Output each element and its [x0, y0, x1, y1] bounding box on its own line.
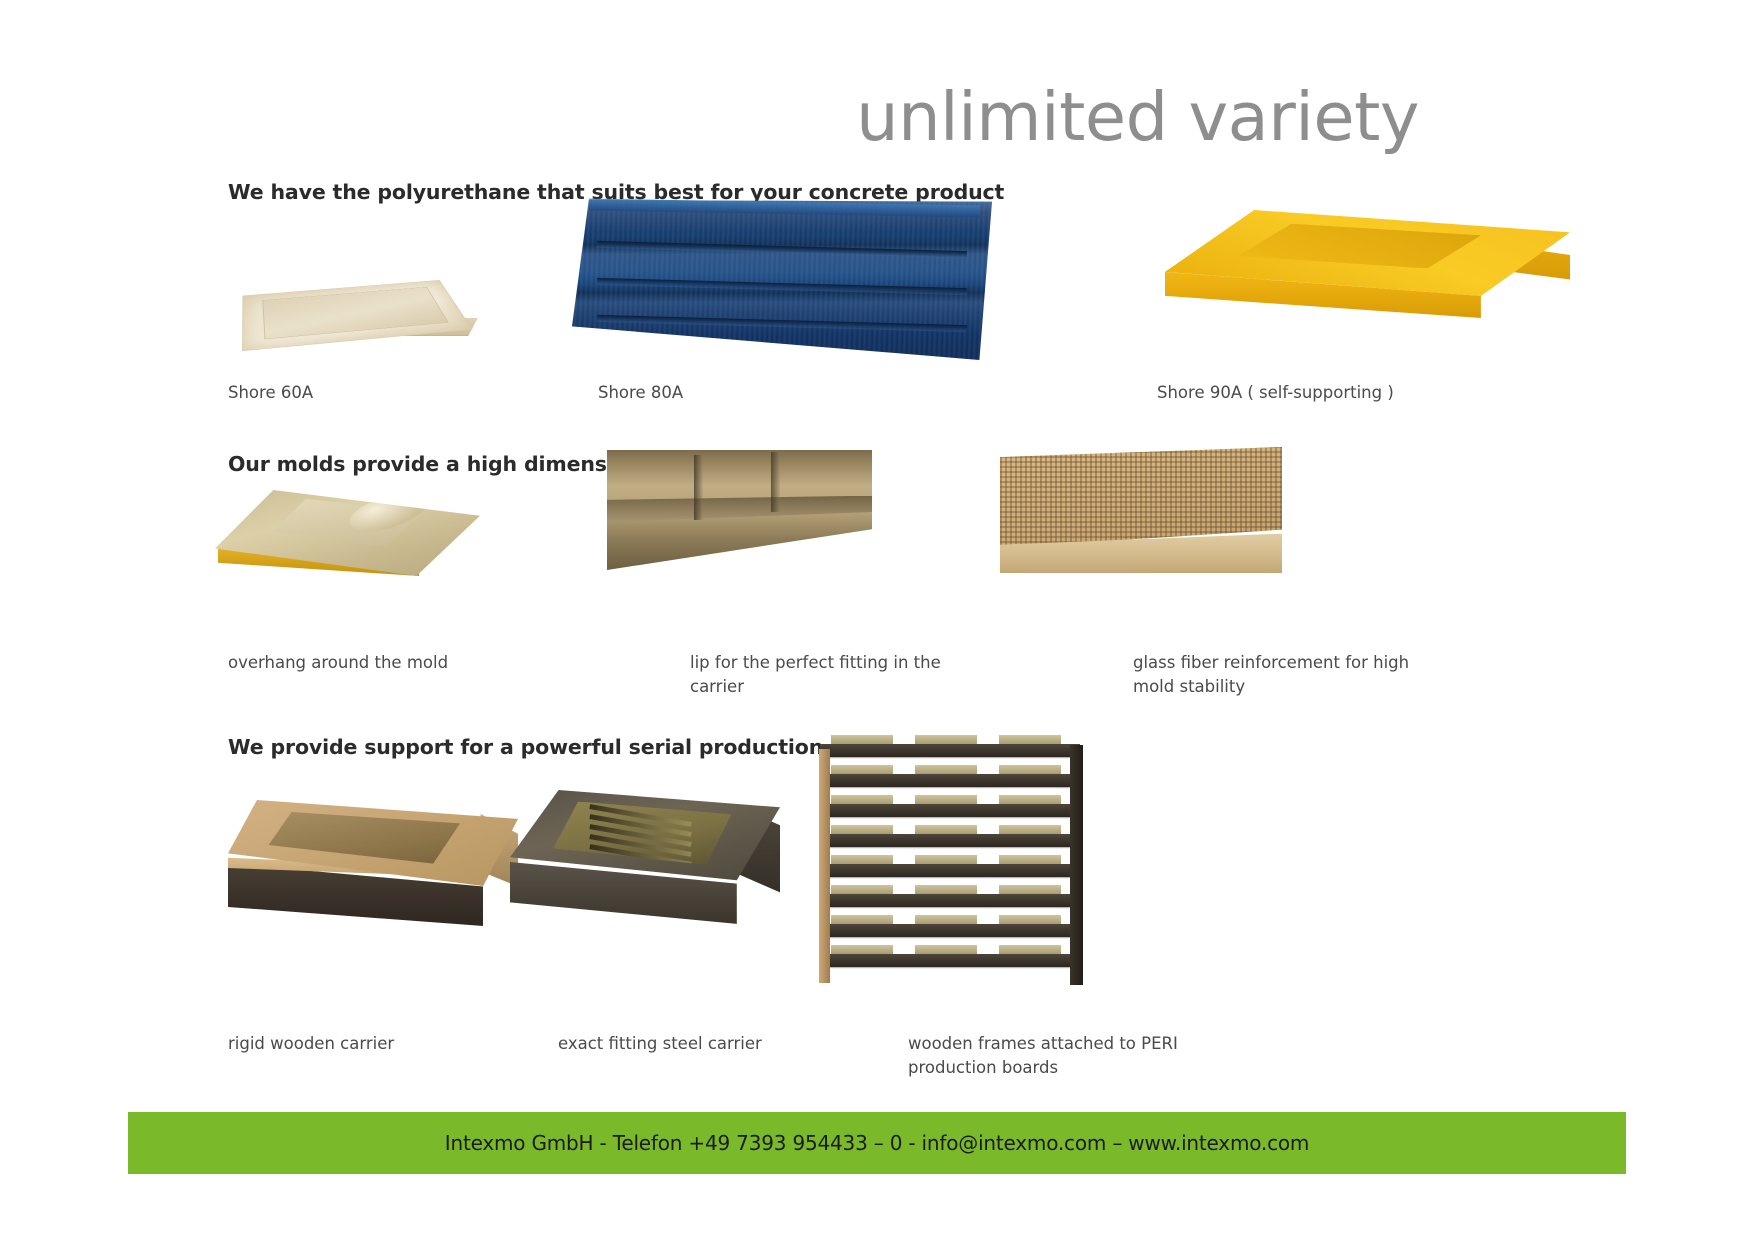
pallet-layer: [815, 735, 1085, 765]
lip-groove: [694, 455, 703, 520]
footer-contact-text: Intexmo GmbH - Telefon +49 7393 954433 –…: [128, 1112, 1626, 1174]
peri-production-board: [820, 924, 1079, 937]
tray-cavity: [262, 287, 449, 340]
brochure-page: unlimited variety We have the polyuretha…: [0, 0, 1754, 1240]
peri-production-board: [820, 804, 1079, 817]
tray-top-face: [242, 280, 473, 351]
pallet-layer: [815, 825, 1085, 855]
pallet-layer: [815, 765, 1085, 795]
image-glass-fiber-weave-closeup: [1000, 447, 1282, 573]
caption-lip: lip for the perfect fitting in the carri…: [690, 651, 960, 699]
peri-production-board: [820, 864, 1079, 877]
peri-production-board: [820, 954, 1079, 967]
caption-shore-60a: Shore 60A: [228, 381, 528, 405]
image-yellow-self-supporting-mold: [1165, 210, 1570, 345]
peri-production-board: [820, 744, 1079, 757]
image-mold-lip-closeup: [607, 450, 872, 570]
carrier-interior: [269, 812, 460, 864]
image-blue-ribbed-mold: [572, 200, 992, 360]
caption-overhang: overhang around the mold: [228, 651, 558, 675]
caption-shore-80a: Shore 80A: [598, 381, 898, 405]
page-title: unlimited variety: [856, 78, 1419, 156]
caption-peri-boards: wooden frames attached to PERI productio…: [908, 1032, 1208, 1080]
pallet-layer: [815, 795, 1085, 825]
caption-wooden-carrier: rigid wooden carrier: [228, 1032, 528, 1056]
image-beige-polyurethane-tray: [232, 222, 497, 360]
steel-cavity: [553, 802, 731, 865]
stack-corner-post: [819, 749, 830, 983]
pallet-layer: [815, 945, 1085, 975]
section-heading-serial-production: We provide support for a powerful serial…: [228, 735, 823, 759]
pallet-layer: [815, 915, 1085, 945]
pallet-layer: [815, 885, 1085, 915]
mold-cavity: [1238, 224, 1481, 269]
fiber-weave-surface: [1000, 447, 1282, 548]
peri-production-board: [820, 894, 1079, 907]
image-stacked-peri-production-boards: [815, 735, 1085, 983]
caption-shore-90a: Shore 90A ( self-supporting ): [1157, 381, 1517, 405]
stack-corner-post: [1070, 745, 1083, 985]
lip-groove: [771, 452, 780, 512]
pallet-layer: [815, 855, 1085, 885]
footer-bar: Intexmo GmbH - Telefon +49 7393 954433 –…: [128, 1112, 1626, 1174]
image-exact-fitting-steel-carrier: [510, 790, 780, 955]
caption-steel-carrier: exact fitting steel carrier: [558, 1032, 858, 1056]
image-mold-overhang-closeup: [215, 490, 480, 615]
image-rigid-wooden-carrier: [228, 800, 518, 960]
peri-production-board: [820, 834, 1079, 847]
peri-production-board: [820, 774, 1079, 787]
caption-glass-fiber: glass fiber reinforcement for high mold …: [1133, 651, 1433, 699]
